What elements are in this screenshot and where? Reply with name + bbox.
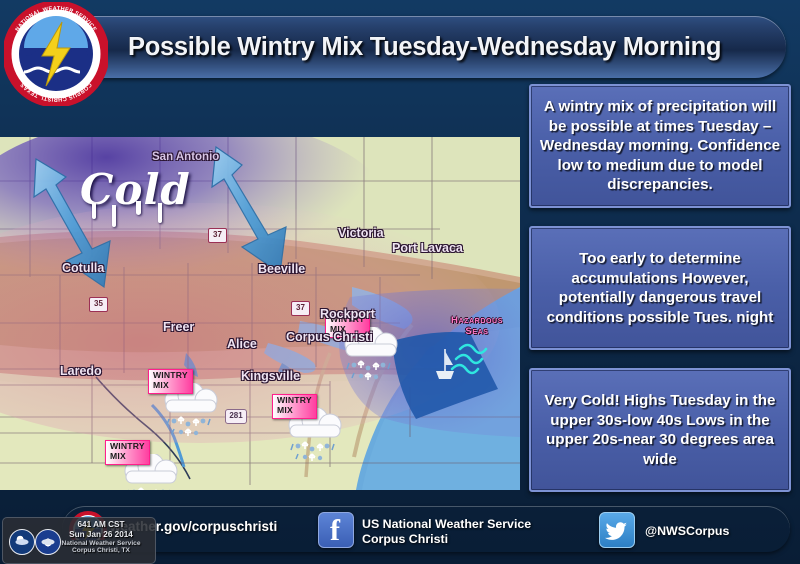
icicle-decoration: [112, 205, 116, 227]
city-label-victoria: Victoria: [338, 226, 384, 240]
facebook-label[interactable]: US National Weather Service Corpus Chris…: [362, 517, 531, 547]
panel-accumulation-outlook-text: Too early to determine accumulations How…: [537, 249, 783, 327]
wintry-mix-tag-line2: MIX: [110, 452, 145, 462]
city-label-san-antonio: San Antonio: [152, 151, 219, 163]
panel-forecast-summary-text: A wintry mix of precipitation will be po…: [537, 97, 783, 195]
wintry-mix-tag: WINTRY MIX: [148, 369, 193, 394]
city-label-freer: Freer: [163, 320, 194, 334]
timestamp-text: 641 AM CST Sun Jan 26 2014 National Weat…: [49, 520, 153, 555]
page-title: Possible Wintry Mix Tuesday-Wednesday Mo…: [128, 24, 778, 70]
forecast-map[interactable]: Cold 35 37 37 281: [0, 137, 520, 490]
hazardous-seas-waves-icon: [430, 337, 516, 391]
city-label-corpus-christi: Corpus Christi: [286, 330, 373, 344]
highway-shield-37: 37: [208, 228, 227, 243]
nws-seal-icon: NATIONAL WEATHER SERVICE CORPUS CHRISTI,…: [4, 2, 108, 106]
wintry-mix-tag-line2: MIX: [153, 381, 188, 391]
wintry-mix-tag: WINTRY MIX: [105, 440, 150, 465]
facebook-label-line1: US National Weather Service: [362, 517, 531, 532]
city-label-beeville: Beeville: [258, 262, 305, 276]
icicle-decoration: [158, 203, 162, 223]
timestamp-time: 641 AM CST: [49, 520, 153, 530]
icicle-decoration: [136, 201, 141, 215]
wintry-mix-tag-line2: MIX: [277, 406, 312, 416]
panel-temperature-outlook-text: Very Cold! Highs Tuesday in the upper 30…: [537, 391, 783, 469]
boat-icon: [436, 349, 454, 379]
panel-accumulation-outlook: Too early to determine accumulations How…: [529, 226, 791, 350]
facebook-icon[interactable]: f: [318, 512, 354, 548]
panel-forecast-summary: A wintry mix of precipitation will be po…: [529, 84, 791, 208]
timestamp-location: Corpus Christi, TX: [49, 547, 153, 555]
timestamp-box: 641 AM CST Sun Jan 26 2014 National Weat…: [2, 517, 156, 564]
city-label-cotulla: Cotulla: [62, 261, 104, 275]
panel-temperature-outlook: Very Cold! Highs Tuesday in the upper 30…: [529, 368, 791, 492]
city-label-kingsville: Kingsville: [241, 369, 300, 383]
hazardous-seas-line2: Seas: [432, 326, 520, 337]
highway-shield-35: 35: [89, 297, 108, 312]
hazardous-seas-line1: Hazardous: [432, 315, 520, 326]
twitter-handle[interactable]: @NWSCorpus: [645, 524, 729, 538]
hazardous-seas-label: Hazardous Seas: [432, 315, 520, 337]
city-label-laredo: Laredo: [60, 364, 102, 378]
wintry-mix-tag: WINTRY MIX: [272, 394, 317, 419]
facebook-label-line2: Corpus Christi: [362, 532, 531, 547]
highway-shield-281: 281: [225, 409, 247, 424]
cold-air-arrow-icon: [0, 137, 520, 490]
noaa-seal-icon: [9, 529, 35, 555]
twitter-icon[interactable]: [599, 512, 635, 548]
weather-infographic: Possible Wintry Mix Tuesday-Wednesday Mo…: [0, 0, 800, 564]
timestamp-date: Sun Jan 26 2014: [49, 530, 153, 540]
icicle-decoration: [92, 203, 96, 219]
city-label-alice: Alice: [227, 337, 257, 351]
city-label-port-lavaca: Port Lavaca: [392, 241, 463, 255]
highway-shield-37b: 37: [291, 301, 310, 316]
city-label-rockport: Rockport: [320, 307, 375, 321]
